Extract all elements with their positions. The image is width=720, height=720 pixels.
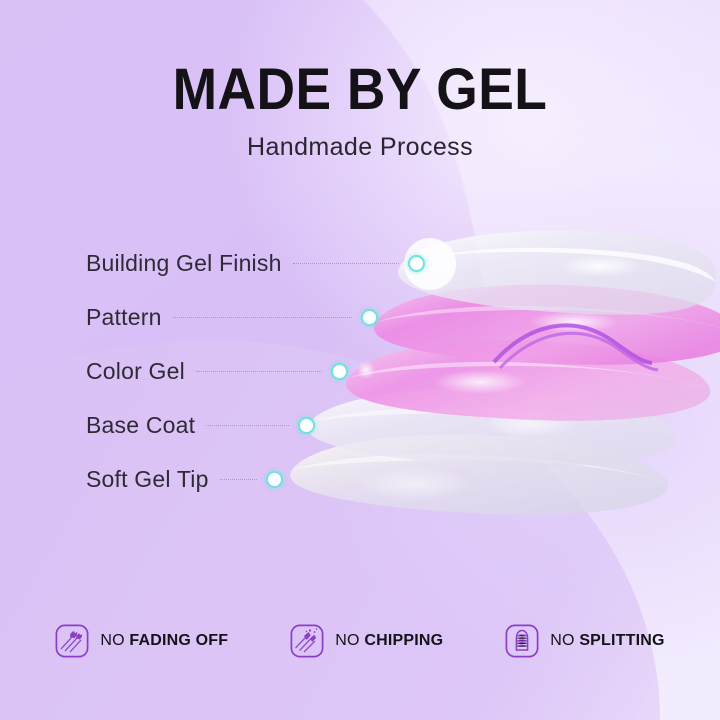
leader-line <box>293 263 399 265</box>
layer-row-soft-gel-tip[interactable]: Soft Gel Tip <box>86 462 283 496</box>
feature-label-strong: SPLITTING <box>579 632 664 649</box>
leader-dot-icon <box>266 471 283 488</box>
feature-label-strong: CHIPPING <box>364 632 443 649</box>
feature-label-strong: FADING OFF <box>129 632 228 649</box>
layer-row-pattern[interactable]: Pattern <box>86 300 378 334</box>
layer-row-color-gel[interactable]: Color Gel <box>86 354 348 388</box>
nail-splitting-icon <box>505 624 539 658</box>
layer-label: Soft Gel Tip <box>86 466 209 493</box>
poster-header: MADE BY GEL Handmade Process <box>0 60 720 162</box>
feature-label-lead: NO <box>550 632 579 649</box>
nail-chipping-icon <box>290 624 324 658</box>
leader-line <box>206 425 289 427</box>
feature-label: NO FADING OFF <box>100 632 228 650</box>
nail-fading-icon <box>55 624 89 658</box>
page-subtitle: Handmade Process <box>0 133 720 162</box>
layer-label: Pattern <box>86 304 162 331</box>
leader-dot-icon <box>298 417 315 434</box>
layer-row-base-coat[interactable]: Base Coat <box>86 408 315 442</box>
feature-no-chipping[interactable]: NO CHIPPING <box>290 624 443 658</box>
feature-no-fading-off[interactable]: NO FADING OFF <box>55 624 228 658</box>
feature-label-lead: NO <box>100 632 129 649</box>
feature-label: NO SPLITTING <box>550 632 664 650</box>
layer-label-list: Building Gel Finish Pattern Color Gel Ba… <box>0 236 720 516</box>
leader-dot-icon <box>408 255 425 272</box>
infographic-poster: MADE BY GEL Handmade Process <box>0 0 720 720</box>
feature-no-splitting[interactable]: NO SPLITTING <box>505 624 664 658</box>
layer-row-building-gel-finish[interactable]: Building Gel Finish <box>86 246 425 280</box>
leader-dot-icon <box>331 363 348 380</box>
feature-label-lead: NO <box>335 632 364 649</box>
layer-label: Base Coat <box>86 412 195 439</box>
feature-badge-list: NO FADING OFF <box>0 624 720 658</box>
feature-label: NO CHIPPING <box>335 632 443 650</box>
leader-line <box>173 317 352 319</box>
page-title: MADE BY GEL <box>29 60 691 121</box>
leader-dot-icon <box>361 309 378 326</box>
leader-line <box>220 479 257 481</box>
leader-line <box>196 371 322 373</box>
layer-label: Color Gel <box>86 358 185 385</box>
layer-label: Building Gel Finish <box>86 250 282 277</box>
